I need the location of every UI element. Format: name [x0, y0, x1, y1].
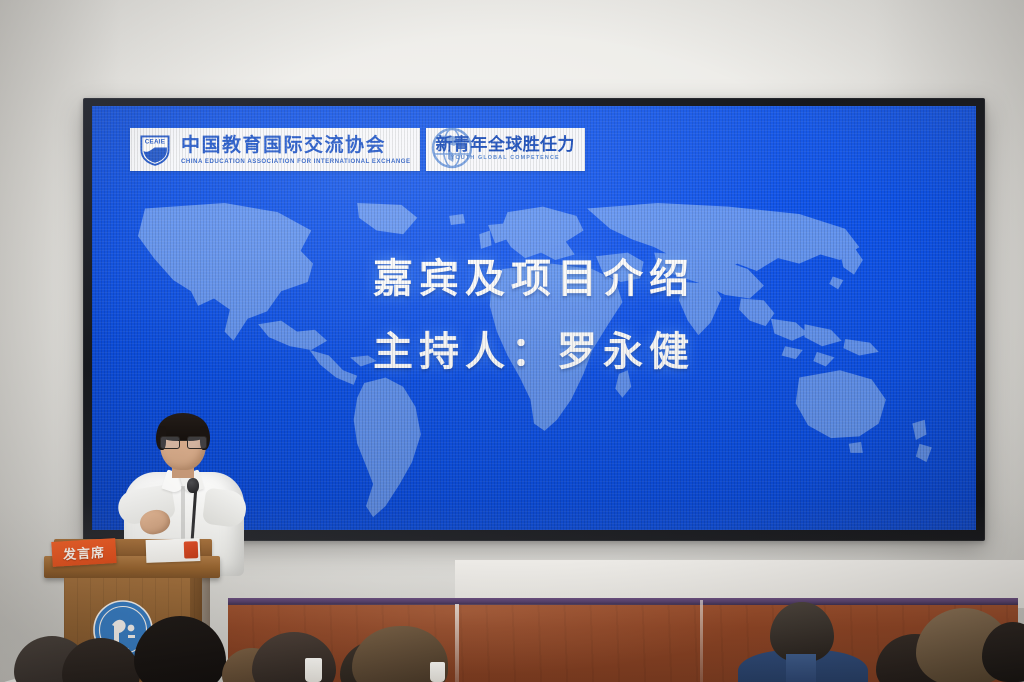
table-panel-seam [455, 604, 459, 682]
slide-logo-bar: CEAIE 中国教育国际交流协会 CHINA EDUCATION ASSOCIA… [130, 128, 585, 171]
svg-text:CEAIE: CEAIE [145, 139, 165, 146]
paper-cup-2 [430, 662, 445, 682]
ceaie-english-name: CHINA EDUCATION ASSOCIATION FOR INTERNAT… [181, 158, 411, 165]
ceaie-chinese-name: 中国教育国际交流协会 [181, 135, 411, 155]
ceaie-logo-card: CEAIE 中国教育国际交流协会 CHINA EDUCATION ASSOCIA… [130, 128, 420, 171]
slide-text-block: 嘉宾及项目介绍 主持人：罗永健 [92, 254, 976, 378]
paper-cup [305, 658, 322, 682]
ygc-english-name: YOUTH GLOBAL COMPETENCE [451, 156, 560, 162]
speaker-notes-paper [146, 538, 201, 563]
podium-sign-label: 发言席 [62, 542, 105, 564]
table-panel-seam-2 [700, 600, 703, 682]
glasses-icon [160, 436, 207, 447]
shield-wave-icon: CEAIE [138, 133, 172, 167]
audience-member-navy-suit [770, 602, 834, 662]
navy-suit-collar [786, 654, 816, 682]
ygc-logo-card: 新青年全球胜任力 YOUTH GLOBAL COMPETENCE [426, 128, 585, 171]
ygc-chinese-name: 新青年全球胜任力 [436, 137, 575, 155]
presentation-scene: CEAIE 中国教育国际交流协会 CHINA EDUCATION ASSOCIA… [0, 0, 1024, 682]
microphone-icon [187, 478, 199, 493]
slide-subtitle: 主持人：罗永健 [92, 327, 976, 378]
slide-title: 嘉宾及项目介绍 [92, 254, 976, 305]
podium-sign: 发言席 [51, 538, 116, 567]
